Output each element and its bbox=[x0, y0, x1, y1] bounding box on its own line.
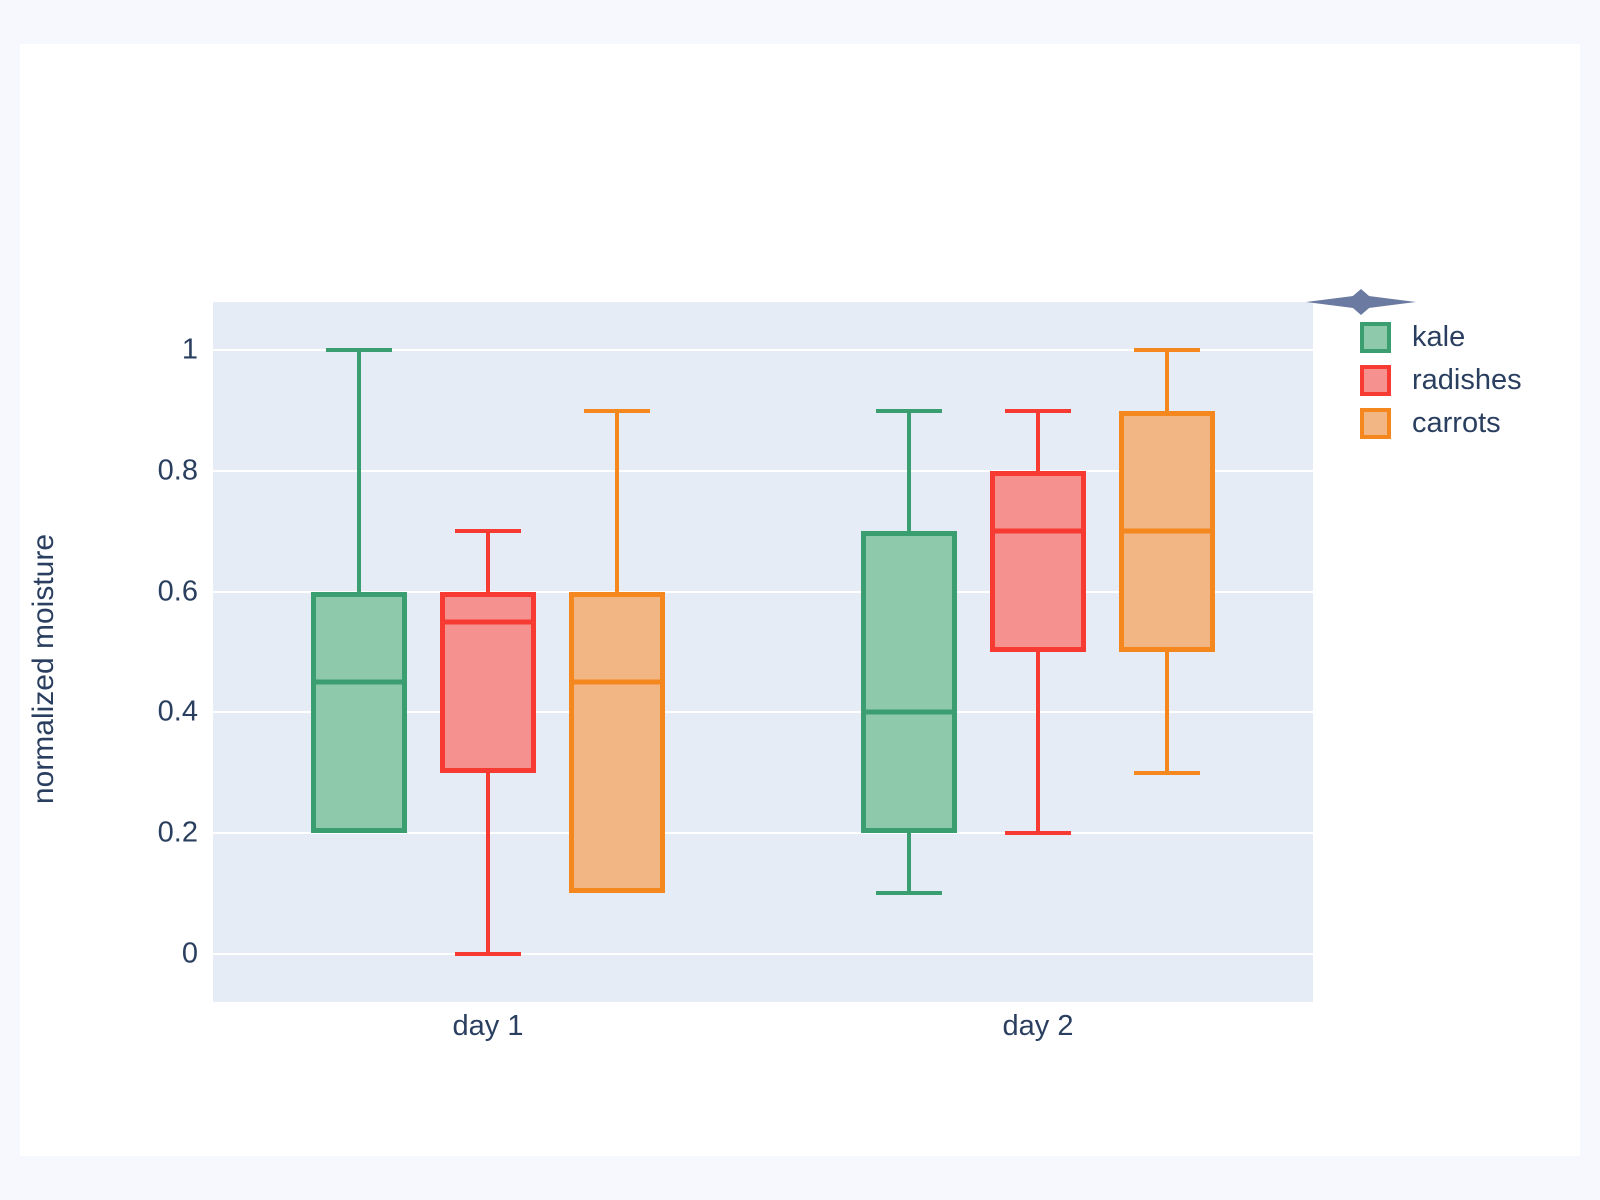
y-axis-tick-label: 0.6 bbox=[158, 575, 198, 608]
legend-swatch-icon bbox=[1360, 322, 1391, 353]
legend-item-label: carrots bbox=[1412, 407, 1501, 440]
whisker-lower bbox=[1165, 652, 1169, 773]
whisker-cap-upper bbox=[1134, 348, 1200, 352]
legend-item-radishes[interactable]: radishes bbox=[1360, 359, 1522, 401]
whisker-upper bbox=[1165, 350, 1169, 410]
legend-item-label: radishes bbox=[1412, 364, 1522, 397]
whisker-cap-upper bbox=[584, 409, 650, 413]
legend-item-label: kale bbox=[1412, 321, 1465, 354]
chart-paper: normalized moisture 00.20.40.60.81 day 1… bbox=[20, 44, 1580, 1156]
whisker-cap-lower bbox=[1134, 771, 1200, 775]
box-series-carrots bbox=[213, 302, 1313, 1002]
median-line bbox=[1119, 529, 1215, 534]
y-axis-tick-labels: 00.20.40.60.81 bbox=[20, 302, 198, 1002]
legend-swatch-icon bbox=[1360, 408, 1391, 439]
plot-area bbox=[213, 302, 1313, 1002]
y-axis-tick-label: 0.4 bbox=[158, 696, 198, 729]
legend: kaleradishescarrots bbox=[1360, 316, 1522, 445]
y-axis-tick-label: 0.8 bbox=[158, 454, 198, 487]
legend-item-carrots[interactable]: carrots bbox=[1360, 402, 1522, 444]
x-axis-tick-label: day 1 bbox=[453, 1010, 524, 1043]
legend-item-kale[interactable]: kale bbox=[1360, 316, 1522, 358]
y-axis-tick-label: 0.2 bbox=[158, 817, 198, 850]
y-axis-tick-label: 1 bbox=[182, 334, 198, 367]
median-line bbox=[569, 680, 665, 685]
legend-swatch-icon bbox=[1360, 365, 1391, 396]
whisker-upper bbox=[615, 411, 619, 592]
box[interactable] bbox=[569, 592, 665, 894]
x-axis-tick-label: day 2 bbox=[1003, 1010, 1074, 1043]
diamond-marker-icon bbox=[1306, 289, 1416, 315]
y-axis-tick-label: 0 bbox=[182, 937, 198, 970]
